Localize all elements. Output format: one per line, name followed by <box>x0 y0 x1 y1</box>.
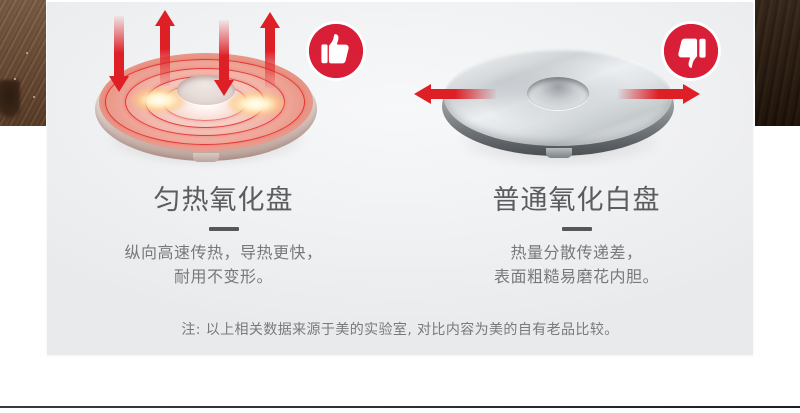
title-divider <box>209 227 239 231</box>
wood-speck <box>26 52 28 54</box>
caption-ordinary: 普通氧化白盘 热量分散传递差， 表面粗糙易磨花内胆。 <box>400 184 753 289</box>
arrow-down-icon <box>214 20 234 96</box>
wood-texture-right <box>755 0 800 126</box>
figure-heated-oxidized-disc <box>47 2 400 182</box>
comparison-column-ordinary: 普通氧化白盘 热量分散传递差， 表面粗糙易磨花内胆。 <box>400 2 753 312</box>
comparison-column-premium: 匀热氧化盘 纵向高速传热，导热更快， 耐用不变形。 <box>47 2 400 312</box>
description-line-2: 表面粗糙易磨花内胆。 <box>400 265 753 289</box>
arrow-up-icon <box>260 12 280 88</box>
caption-premium: 匀热氧化盘 纵向高速传热，导热更快， 耐用不变形。 <box>47 184 400 289</box>
arrow-left-icon <box>414 84 496 104</box>
thumbs-down-badge <box>664 24 718 78</box>
figure-plain-white-disc <box>400 2 753 182</box>
arrow-up-icon <box>155 10 175 86</box>
disc-center-hole <box>527 77 589 110</box>
wood-texture-left <box>0 0 46 126</box>
description-line-1: 热量分散传递差， <box>400 241 753 265</box>
thumbs-up-icon <box>309 24 363 78</box>
column-title: 普通氧化白盘 <box>400 184 753 218</box>
thumbs-up-badge <box>309 24 363 78</box>
infographic-stage: 匀热氧化盘 纵向高速传热，导热更快， 耐用不变形。 <box>0 0 800 413</box>
column-description: 热量分散传递差， 表面粗糙易磨花内胆。 <box>400 241 753 289</box>
column-title: 匀热氧化盘 <box>47 184 400 218</box>
plain-disc-illustration <box>442 44 674 170</box>
disc-foot <box>546 148 572 158</box>
hot-spot-glow <box>227 91 285 117</box>
title-divider <box>562 227 592 231</box>
wood-knot <box>0 80 20 120</box>
description-line-1: 纵向高速传热，导热更快， <box>47 241 400 265</box>
thumbs-down-icon <box>664 24 718 78</box>
comparison-panel: 匀热氧化盘 纵向高速传热，导热更快， 耐用不变形。 <box>47 2 753 355</box>
description-line-2: 耐用不变形。 <box>47 265 400 289</box>
wood-speck <box>14 78 16 80</box>
bottom-divider <box>0 406 800 408</box>
arrow-right-icon <box>618 84 700 104</box>
column-description: 纵向高速传热，导热更快， 耐用不变形。 <box>47 241 400 289</box>
wood-speck <box>33 96 35 98</box>
arrow-down-icon <box>109 16 129 92</box>
disc-foot <box>193 153 219 162</box>
footnote: 注: 以上相关数据来源于美的实验室, 对比内容为美的自有老品比较。 <box>47 320 753 340</box>
